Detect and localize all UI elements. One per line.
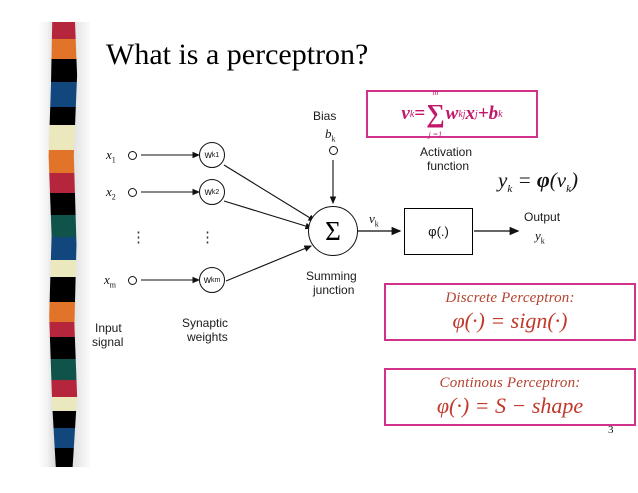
output-eq-y-sub: k	[507, 183, 512, 195]
bias-symbol: bk	[325, 126, 336, 144]
weights-ellipsis: ⋮	[200, 228, 215, 246]
stripe-band-11	[48, 260, 78, 277]
output-eq-y: y	[498, 168, 507, 192]
slide-number: 3	[608, 424, 614, 436]
stripe-band-9	[48, 215, 78, 237]
input-label-x2: x2	[106, 184, 116, 202]
weight-sub-km: km	[211, 277, 220, 284]
input-node-x1	[128, 151, 137, 160]
continuous-perceptron-title: Continous Perceptron:	[386, 375, 634, 392]
formula-term-w: w	[446, 103, 459, 125]
summing-caption-line2: junction	[313, 284, 354, 297]
weight-sub-k1: k1	[212, 152, 219, 159]
input-sub-1: 1	[112, 156, 116, 165]
continuous-perceptron-equation: φ(·) = S − shape	[386, 393, 634, 419]
formula-plus: +	[478, 103, 489, 125]
formula-sigma-glyph: ∑	[426, 99, 445, 128]
stripe-bands	[48, 22, 78, 467]
formula-equals: =	[414, 103, 425, 125]
stripe-band-6	[48, 150, 78, 173]
weight-sub-k2: k2	[212, 189, 219, 196]
input-caption-line1: Input	[95, 322, 122, 335]
activation-caption-line2: function	[427, 160, 469, 173]
formula-term-w-sub: kj	[458, 109, 465, 120]
discrete-perceptron-box: Discrete Perceptron: φ(·) = sign(·)	[384, 283, 636, 341]
activation-function-box: φ(.)	[404, 208, 473, 255]
stripe-band-15	[48, 337, 78, 359]
output-caption: Output	[524, 211, 560, 224]
formula-term-x: x	[466, 103, 476, 125]
discrete-perceptron-equation: φ(·) = sign(·)	[386, 308, 634, 334]
discrete-perceptron-title: Discrete Perceptron:	[386, 290, 634, 307]
weight-node-wk2: wk2	[199, 179, 225, 205]
stripe-bands-clip	[48, 22, 78, 467]
stripe-band-10	[48, 237, 78, 260]
weight-node-wk1: wk1	[199, 142, 225, 168]
weights-caption-line1: Synaptic	[182, 317, 228, 330]
v-label: vk	[369, 211, 379, 229]
output-eq-phi: φ	[537, 167, 550, 192]
output-sub: k	[541, 237, 545, 246]
weight-node-wkm: wkm	[199, 267, 225, 293]
output-equation: yk = φ(vk)	[498, 167, 578, 195]
stripe-band-8	[48, 193, 78, 215]
formula-sum-lower: j =1	[429, 130, 443, 139]
output-eq-open: (	[550, 168, 557, 192]
stripe-band-16	[48, 359, 78, 381]
weights-caption-line2: weights	[187, 331, 228, 344]
main-formula-text: vk = m ∑ j =1 wkj xj + bk	[401, 99, 502, 129]
continuous-perceptron-box: Continous Perceptron: φ(·) = S − shape	[384, 368, 636, 426]
formula-sum-upper: m	[432, 88, 438, 97]
slide-canvas: What is a perceptron? x1 x2 xm ⋮ ⋮	[0, 0, 638, 493]
output-symbol: yk	[535, 228, 545, 246]
input-sub-2: 2	[112, 193, 116, 202]
input-caption-line2: signal	[92, 336, 123, 349]
weight-label-w: w	[205, 187, 212, 198]
input-label-xm: xm	[104, 272, 116, 290]
weight-label-w: w	[204, 275, 211, 286]
stripe-band-20	[48, 428, 78, 448]
stripe-band-13	[48, 302, 78, 322]
stripe-band-1	[48, 39, 78, 59]
stripe-band-12	[48, 277, 78, 302]
input-ellipsis: ⋮	[131, 228, 146, 246]
formula-lhs: v	[401, 103, 409, 125]
bias-caption: Bias	[313, 110, 336, 123]
stripe-band-21	[48, 448, 78, 467]
v-sub: k	[375, 220, 379, 229]
stripe-band-7	[48, 173, 78, 193]
stripe-band-14	[48, 322, 78, 337]
stripe-band-4	[48, 107, 78, 126]
summing-caption-line1: Summing	[306, 270, 357, 283]
stripe-band-18	[48, 397, 78, 411]
output-eq-close: )	[571, 168, 578, 192]
activation-caption-line1: Activation	[420, 146, 472, 159]
output-eq-equals: =	[517, 168, 531, 192]
formula-term-b-sub: k	[498, 109, 502, 120]
output-eq-v: v	[557, 168, 566, 192]
stripe-band-19	[48, 411, 78, 428]
input-sub-m: m	[110, 281, 116, 290]
input-label-x1: x1	[106, 147, 116, 165]
input-node-xm	[128, 276, 137, 285]
input-node-x2	[128, 188, 137, 197]
weight-label-w: w	[205, 150, 212, 161]
bias-node	[329, 146, 338, 155]
summing-junction-node: Σ	[308, 206, 358, 256]
stripe-band-3	[48, 82, 78, 107]
stripe-band-5	[48, 125, 78, 150]
formula-term-b: b	[489, 103, 499, 125]
formula-sum-symbol: m ∑ j =1	[426, 99, 445, 129]
main-formula-box: vk = m ∑ j =1 wkj xj + bk	[366, 90, 538, 138]
stripe-band-0	[48, 22, 78, 39]
stripe-band-2	[48, 59, 78, 82]
page-title: What is a perceptron?	[106, 38, 368, 72]
decorative-stripe	[38, 22, 90, 467]
bias-sub: k	[332, 135, 336, 144]
stripe-band-17	[48, 380, 78, 397]
